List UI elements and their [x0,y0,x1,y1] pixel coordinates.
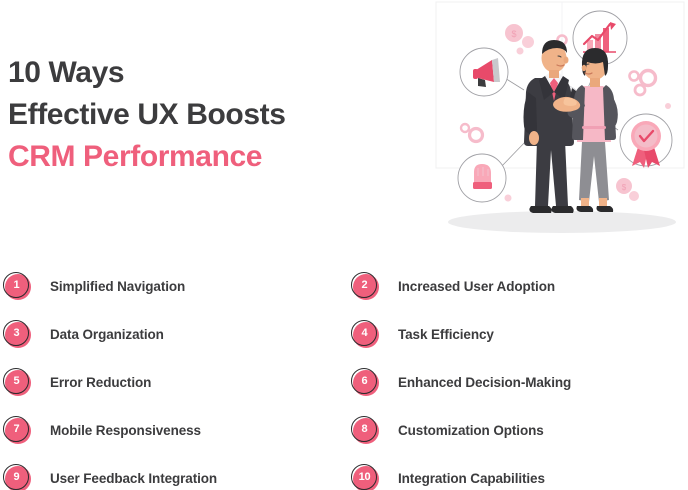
list-item-label: Task Efficiency [398,327,494,342]
infographic-page: 10 Ways Effective UX Boosts CRM Performa… [0,0,688,490]
number-badge: 6 [351,368,380,397]
badge-number: 4 [351,320,378,347]
list-item-label: Data Organization [50,327,164,342]
title-line-3-accent: CRM Performance [8,136,428,178]
megaphone-icon [460,48,508,96]
badge-number: 5 [3,368,30,395]
badge-number: 2 [351,272,378,299]
list-item-label: Error Reduction [50,375,151,390]
svg-text:$: $ [622,183,627,192]
badge-number: 6 [351,368,378,395]
number-badge: 5 [3,368,32,397]
number-badge: 4 [351,320,380,349]
benefits-list: 1 Simplified Navigation 3 Data Organizat… [0,262,688,490]
list-item-label: Simplified Navigation [50,279,185,294]
list-item-label: Customization Options [398,423,544,438]
badge-number: 7 [3,416,30,443]
hero-illustration: $ $ [432,0,688,240]
page-title: 10 Ways Effective UX Boosts CRM Performa… [8,52,428,178]
list-item-label: Increased User Adoption [398,279,555,294]
number-badge: 10 [351,464,380,490]
list-item[interactable]: 2 Increased User Adoption [348,262,688,310]
benefits-column-left: 1 Simplified Navigation 3 Data Organizat… [0,262,344,490]
list-item-label: Mobile Responsiveness [50,423,201,438]
list-item[interactable]: 6 Enhanced Decision-Making [348,358,688,406]
list-item[interactable]: 7 Mobile Responsiveness [0,406,344,454]
dot-decoration [505,195,512,202]
coin-cluster-right: $ [616,178,639,201]
number-badge: 1 [3,272,32,301]
number-badge: 9 [3,464,32,490]
list-item-label: Integration Capabilities [398,471,545,486]
list-item-label: Enhanced Decision-Making [398,375,571,390]
badge-number: 9 [3,464,30,490]
list-item[interactable]: 10 Integration Capabilities [348,454,688,490]
list-item[interactable]: 9 User Feedback Integration [0,454,344,490]
list-item[interactable]: 3 Data Organization [0,310,344,358]
badge-number: 1 [3,272,30,299]
badge-number: 3 [3,320,30,347]
number-badge: 8 [351,416,380,445]
benefits-column-right: 2 Increased User Adoption 4 Task Efficie… [348,262,688,490]
svg-text:$: $ [511,29,516,39]
number-badge: 3 [3,320,32,349]
list-item[interactable]: 5 Error Reduction [0,358,344,406]
list-item[interactable]: 1 Simplified Navigation [0,262,344,310]
dot-decoration [665,103,671,109]
number-badge: 7 [3,416,32,445]
title-line-2: Effective UX Boosts [8,94,428,136]
title-line-1: 10 Ways [8,52,428,94]
list-item[interactable]: 4 Task Efficiency [348,310,688,358]
list-item[interactable]: 8 Customization Options [348,406,688,454]
list-item-label: User Feedback Integration [50,471,217,486]
number-badge: 2 [351,272,380,301]
raised-fist-icon [458,154,506,202]
ground-shadow [448,211,676,233]
badge-number: 10 [351,464,378,490]
badge-number: 8 [351,416,378,443]
